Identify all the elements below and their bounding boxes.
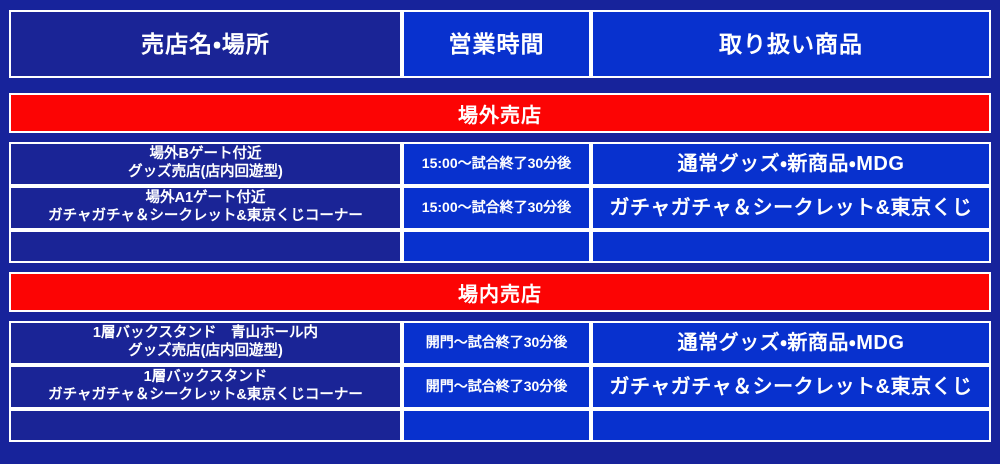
table-row: 場外Bゲート付近 グッズ売店(店内回遊型) 15:00〜試合終了30分後 通常グ… (9, 142, 991, 186)
cell-goods: ガチャガチャ＆シークレット&東京くじ (591, 365, 991, 409)
cell-goods: ガチャガチャ＆シークレット&東京くじ (591, 186, 991, 230)
cell-place: 1層バックスタンド 青山ホール内 グッズ売店(店内回遊型) (9, 321, 402, 365)
cell-place: 1層バックスタンド ガチャガチャ＆シークレット&東京くじコーナー (9, 365, 402, 409)
table-row-empty (9, 409, 991, 442)
cell-time: 開門〜試合終了30分後 (402, 365, 591, 409)
cell-place: 場外Bゲート付近 グッズ売店(店内回遊型) (9, 142, 402, 186)
table-row: 1層バックスタンド 青山ホール内 グッズ売店(店内回遊型) 開門〜試合終了30分… (9, 321, 991, 365)
header-cell-goods: 取り扱い商品 (591, 10, 991, 78)
header-cell-time: 営業時間 (402, 10, 591, 78)
header-cell-place: 売店名・場所 (9, 10, 402, 78)
cell-goods (591, 230, 991, 263)
cell-time: 開門〜試合終了30分後 (402, 321, 591, 365)
section-banner-row-outside: 場外売店 (9, 93, 991, 133)
table-row: 1層バックスタンド ガチャガチャ＆シークレット&東京くじコーナー 開門〜試合終了… (9, 365, 991, 409)
section-banner-row-inside: 場内売店 (9, 272, 991, 312)
cell-time: 15:00〜試合終了30分後 (402, 142, 591, 186)
cell-place: 場外A1ゲート付近 ガチャガチャ＆シークレット&東京くじコーナー (9, 186, 402, 230)
section-banner-outside: 場外売店 (9, 93, 991, 133)
section-body-outside: 場外Bゲート付近 グッズ売店(店内回遊型) 15:00〜試合終了30分後 通常グ… (9, 142, 991, 263)
cell-place (9, 409, 402, 442)
cell-time: 15:00〜試合終了30分後 (402, 186, 591, 230)
section-banner-inside: 場内売店 (9, 272, 991, 312)
cell-goods: 通常グッズ・新商品・MDG (591, 321, 991, 365)
section-body-inside: 1層バックスタンド 青山ホール内 グッズ売店(店内回遊型) 開門〜試合終了30分… (9, 321, 991, 442)
cell-goods (591, 409, 991, 442)
cell-place (9, 230, 402, 263)
cell-time (402, 409, 591, 442)
table-header-row: 売店名・場所 営業時間 取り扱い商品 (9, 10, 991, 78)
shop-info-table: 売店名・場所 営業時間 取り扱い商品 場外売店 場外Bゲート付近 グッズ売店(店… (0, 0, 1000, 464)
cell-goods: 通常グッズ・新商品・MDG (591, 142, 991, 186)
cell-time (402, 230, 591, 263)
table-row-empty (9, 230, 991, 263)
table-row: 場外A1ゲート付近 ガチャガチャ＆シークレット&東京くじコーナー 15:00〜試… (9, 186, 991, 230)
